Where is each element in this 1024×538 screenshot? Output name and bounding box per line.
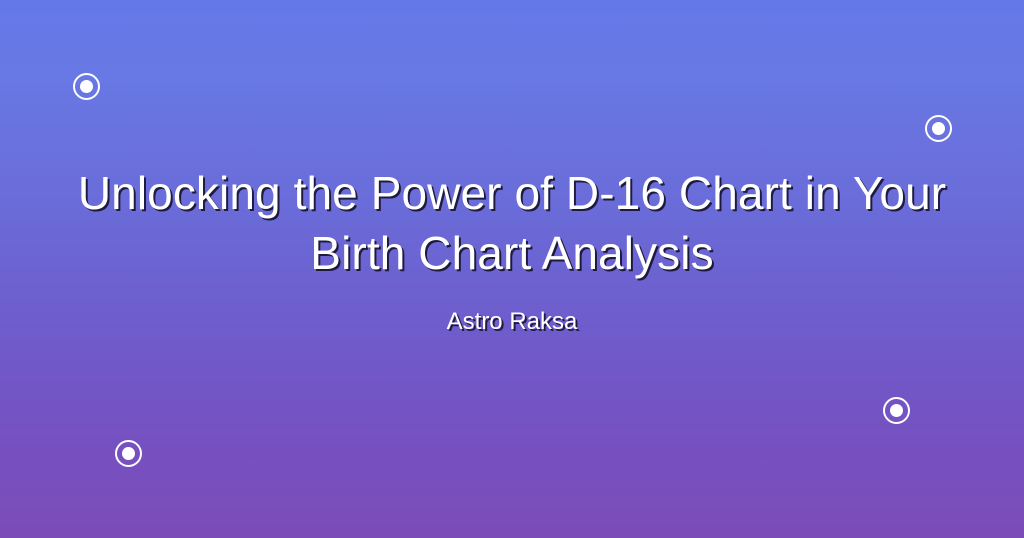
slide-subtitle: Astro Raksa — [447, 307, 578, 337]
title-slide: Unlocking the Power of D-16 Chart in You… — [0, 0, 1024, 538]
slide-title: Unlocking the Power of D-16 Chart in You… — [47, 163, 977, 283]
slide-text-block: Unlocking the Power of D-16 Chart in You… — [0, 0, 1024, 538]
